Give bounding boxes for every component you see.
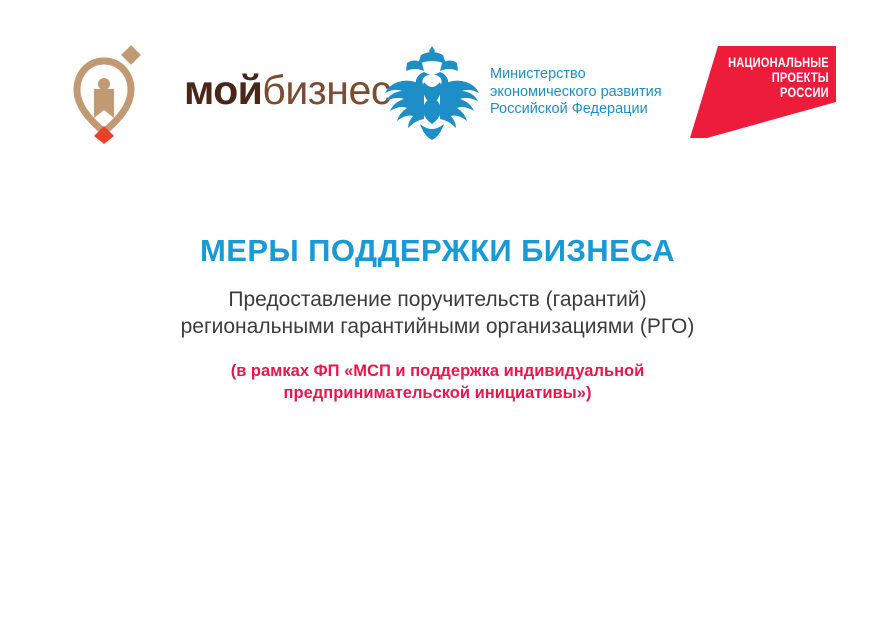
program-note-line-2: предпринимательской инициативы»)	[0, 382, 875, 404]
ministry-name-line-1: Министерство	[490, 66, 662, 84]
moy-biznes-wordmark: мойбизнес	[184, 70, 391, 111]
moy-biznes-word-bold: мой	[184, 67, 262, 113]
national-projects-name: НАЦИОНАЛЬНЫЕ ПРОЕКТЫ РОССИИ	[728, 55, 829, 100]
subtitle-line-2: региональными гарантийными организациями…	[0, 313, 875, 340]
logo-national-projects: НАЦИОНАЛЬНЫЕ ПРОЕКТЫ РОССИИ	[690, 46, 836, 138]
slide-content: МЕРЫ ПОДДЕРЖКИ БИЗНЕСА Предоставление по…	[0, 232, 875, 404]
program-note: (в рамках ФП «МСП и поддержка индивидуал…	[0, 360, 875, 404]
logo-ministry: Министерство экономического развития Рос…	[380, 42, 670, 148]
logo-moy-biznes: мойбизнес	[68, 44, 348, 144]
moy-biznes-word-light: бизнес	[262, 67, 391, 113]
ministry-name: Министерство экономического развития Рос…	[490, 66, 662, 119]
program-note-line-1: (в рамках ФП «МСП и поддержка индивидуал…	[0, 360, 875, 382]
presentation-slide: мойбизнес	[0, 0, 875, 621]
slide-title: МЕРЫ ПОДДЕРЖКИ БИЗНЕСА	[0, 232, 875, 270]
slide-subtitle: Предоставление поручительств (гарантий) …	[0, 286, 875, 340]
national-projects-line-1: НАЦИОНАЛЬНЫЕ	[728, 55, 829, 70]
logo-strip: мойбизнес	[0, 0, 875, 175]
national-projects-line-3: РОССИИ	[728, 85, 829, 100]
national-projects-line-2: ПРОЕКТЫ	[728, 70, 829, 85]
moy-biznes-mark-icon	[68, 44, 146, 144]
ministry-name-line-3: Российской Федерации	[490, 101, 662, 119]
subtitle-line-1: Предоставление поручительств (гарантий)	[0, 286, 875, 313]
ministry-name-line-2: экономического развития	[490, 84, 662, 102]
double-headed-eagle-icon	[380, 42, 484, 146]
